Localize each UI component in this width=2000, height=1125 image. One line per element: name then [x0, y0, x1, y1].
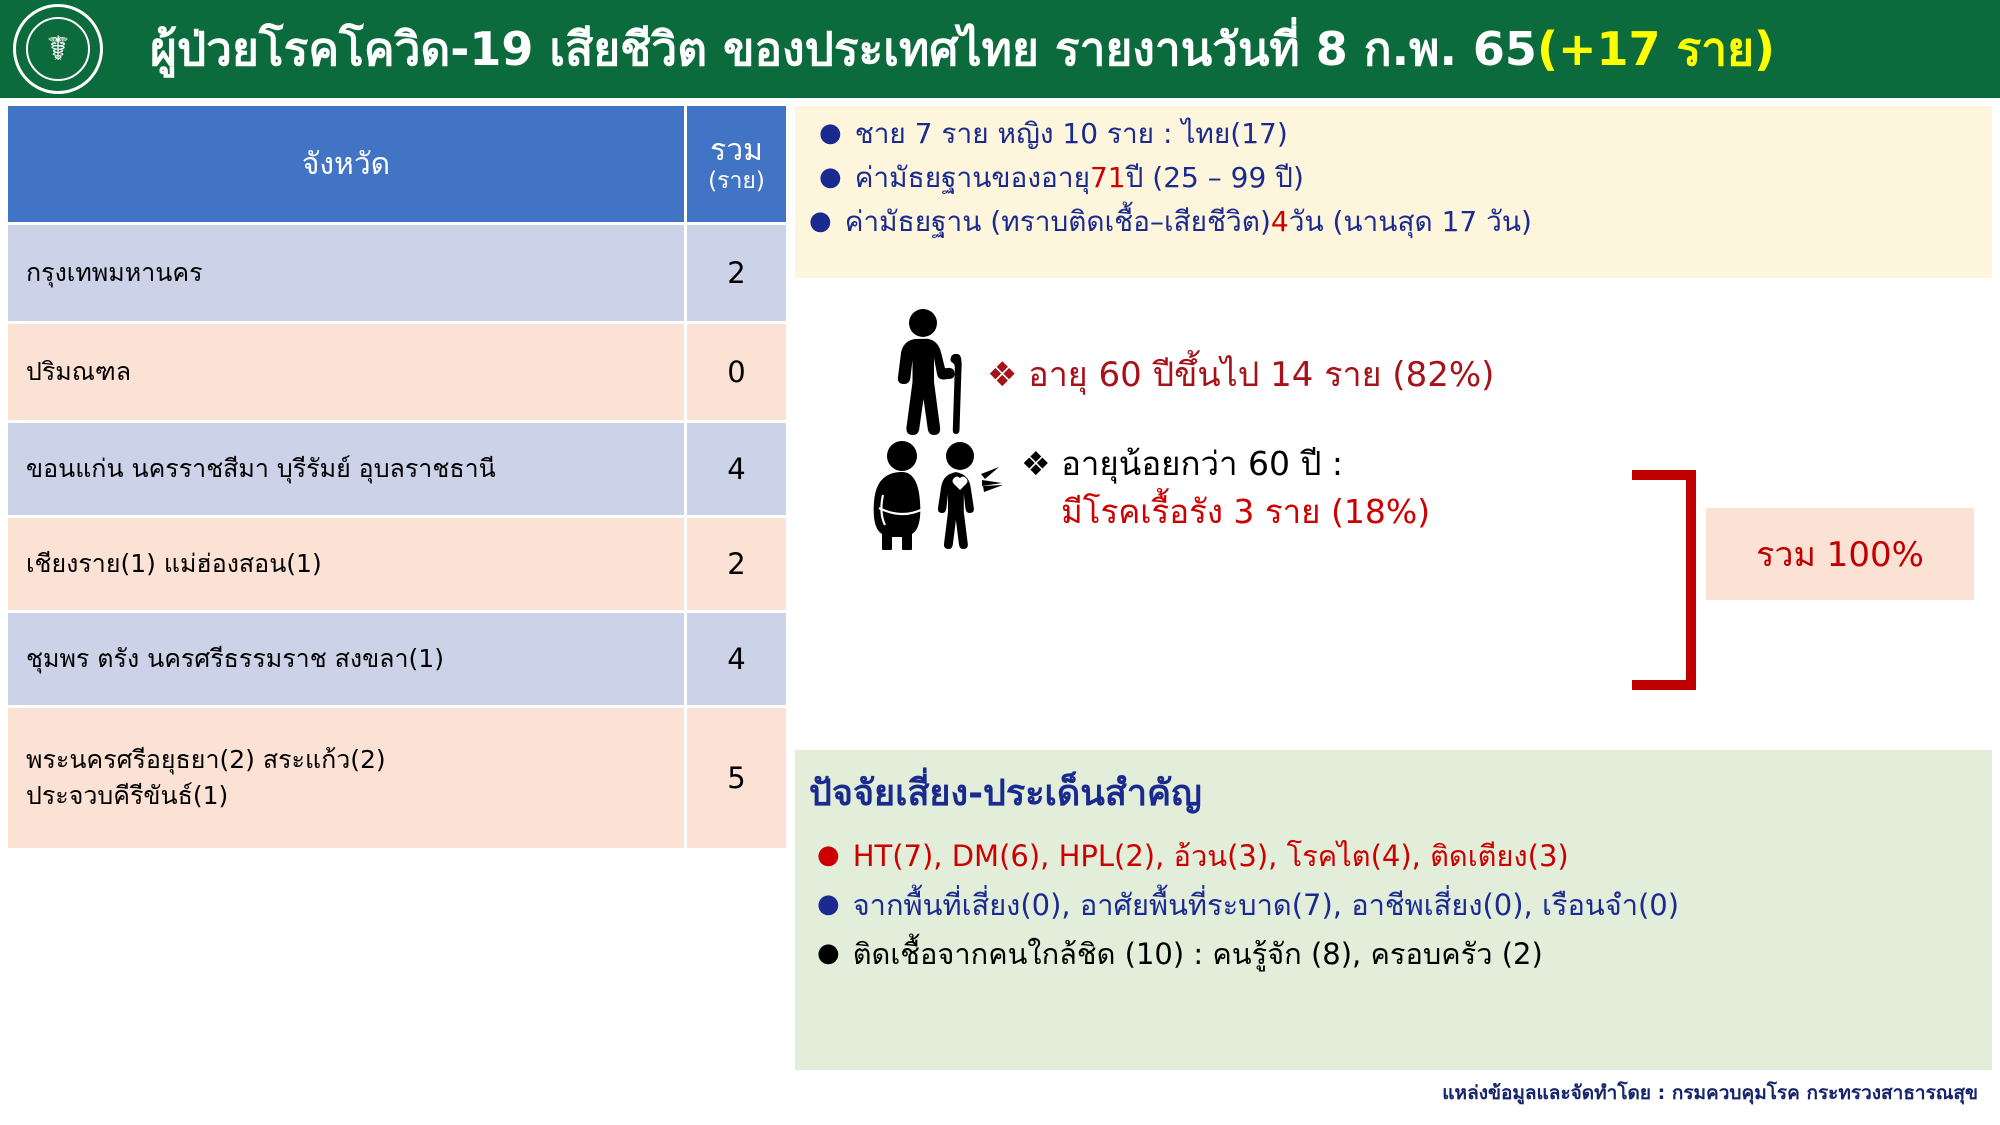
cell-total: 4 [687, 613, 786, 705]
age-under-60-text: ❖ อายุน้อยกว่า 60 ปี : มีโรคเรื้อรัง 3 ร… [1021, 440, 1430, 536]
cell-province-line2: ประจวบคีรีขันธ์(1) [26, 778, 386, 814]
table-row: เชียงราย(1) แม่ฮ่องสอน(1) 2 [8, 518, 786, 610]
column-header-total: รวม (ราย) [687, 106, 786, 222]
cell-total: 5 [687, 708, 786, 848]
cell-province: พระนครศรีอยุธยา(2) สระแก้ว(2) ประจวบคีรี… [8, 708, 684, 848]
table-row: พระนครศรีอยุธยา(2) สระแก้ว(2) ประจวบคีรี… [8, 708, 786, 848]
summary-stats-panel: ● ชาย 7 ราย หญิง 10 ราย : ไทย(17) ● ค่าม… [795, 106, 1992, 278]
risk-bullet-comorbidities: ● HT(7), DM(6), HPL(2), อ้วน(3), โรคไต(4… [795, 839, 1992, 874]
caduceus-icon: ☤ [47, 32, 70, 66]
cell-province: ปริมณฑล [8, 324, 684, 420]
risk-text: ติดเชื้อจากคนใกล้ชิด (10) : คนรู้จัก (8)… [853, 937, 1543, 972]
obese-and-chronic-illness-icon [867, 440, 1017, 554]
cell-province: ขอนแก่น นครราชสีมา บุรีรัมย์ อุบลราชธานี [8, 423, 684, 515]
cell-total: 2 [687, 518, 786, 610]
table-row: ปริมณฑล 0 [8, 324, 786, 420]
source-credit: แหล่งข้อมูลและจัดทำโดย : กรมควบคุมโรค กร… [1442, 1078, 1978, 1108]
risk-text: จากพื้นที่เสี่ยง(0), อาศัยพื้นที่ระบาด(7… [853, 888, 1679, 923]
column-header-province: จังหวัด [8, 106, 684, 222]
age-under-60-line2: มีโรคเรื้อรัง 3 ราย (18%) [1021, 488, 1430, 536]
bullet-dot-icon: ● [809, 208, 832, 234]
stat-bullet-median-days: ● ค่ามัธยฐาน (ทราบติดเชื้อ–เสียชีวิต) 4 … [795, 204, 1992, 239]
grouping-bracket [1632, 470, 1696, 690]
stat-text: ชาย 7 ราย หญิง 10 ราย : ไทย(17) [855, 116, 1288, 151]
table-row: ขอนแก่น นครราชสีมา บุรีรัมย์ อุบลราชธานี… [8, 423, 786, 515]
stat-bullet-median-age: ● ค่ามัธยฐานของอายุ 71 ปี (25 – 99 ปี) [795, 160, 1992, 195]
logo-outer-ring: ☤ [13, 4, 103, 94]
page-header: ☤ ผู้ป่วยโรคโควิด-19 เสียชีวิต ของประเทศ… [0, 0, 2000, 98]
page-title-new-deaths: (+17 ราย) [1537, 13, 1775, 86]
ministry-of-public-health-logo: ☤ [12, 4, 104, 94]
stat-text-post: ปี (25 – 99 ปี) [1126, 160, 1304, 195]
bullet-dot-icon: ● [817, 842, 840, 868]
age-under-60-line1: ❖ อายุน้อยกว่า 60 ปี : [1021, 444, 1343, 483]
page-title: ผู้ป่วยโรคโควิด-19 เสียชีวิต ของประเทศไท… [150, 0, 1980, 98]
cell-province: ชุมพร ตรัง นครศรีธรรมราช สงขลา(1) [8, 613, 684, 705]
risk-bullet-close-contact: ● ติดเชื้อจากคนใกล้ชิด (10) : คนรู้จัก (… [795, 937, 1992, 972]
cell-province: เชียงราย(1) แม่ฮ่องสอน(1) [8, 518, 684, 610]
stat-text-pre: ค่ามัธยฐานของอายุ [855, 160, 1090, 195]
column-header-total-unit: (ราย) [708, 168, 765, 194]
risk-panel-title: ปัจจัยเสี่ยง-ประเด็นสำคัญ [795, 764, 1992, 821]
bullet-dot-icon: ● [817, 940, 840, 966]
bullet-dot-icon: ● [819, 120, 842, 146]
logo-inner-ring: ☤ [26, 17, 90, 81]
stat-median-days-value: 4 [1271, 204, 1289, 239]
bullet-dot-icon: ● [819, 164, 842, 190]
risk-text: HT(7), DM(6), HPL(2), อ้วน(3), โรคไต(4),… [853, 839, 1569, 874]
stat-bullet-sex-nationality: ● ชาย 7 ราย หญิง 10 ราย : ไทย(17) [795, 116, 1992, 151]
table-row: ชุมพร ตรัง นครศรีธรรมราช สงขลา(1) 4 [8, 613, 786, 705]
risk-bullet-exposure-area: ● จากพื้นที่เสี่ยง(0), อาศัยพื้นที่ระบาด… [795, 888, 1992, 923]
cell-province-line1: พระนครศรีอยุธยา(2) สระแก้ว(2) [26, 742, 386, 778]
cell-total: 2 [687, 225, 786, 321]
age-60-plus-row: ❖ อายุ 60 ปีขึ้นไป 14 ราย (82%) [885, 308, 1494, 440]
province-death-table: จังหวัด รวม (ราย) กรุงเทพมหานคร 2 ปริมณฑ… [8, 106, 786, 851]
stat-median-age-value: 71 [1090, 160, 1126, 195]
stat-text-post: วัน (นานสุด 17 วัน) [1289, 204, 1532, 239]
age-under-60-row: ❖ อายุน้อยกว่า 60 ปี : มีโรคเรื้อรัง 3 ร… [867, 440, 1430, 554]
risk-factors-panel: ปัจจัยเสี่ยง-ประเด็นสำคัญ ● HT(7), DM(6)… [795, 750, 1992, 1070]
bullet-dot-icon: ● [817, 891, 840, 917]
table-header-row: จังหวัด รวม (ราย) [8, 106, 786, 222]
page-title-main: ผู้ป่วยโรคโควิด-19 เสียชีวิต ของประเทศไท… [150, 13, 1537, 86]
column-header-total-label: รวม [710, 134, 763, 169]
stat-text-pre: ค่ามัธยฐาน (ทราบติดเชื้อ–เสียชีวิต) [845, 204, 1271, 239]
elderly-with-cane-icon [885, 308, 975, 440]
cell-total: 4 [687, 423, 786, 515]
cell-total: 0 [687, 324, 786, 420]
cell-province: กรุงเทพมหานคร [8, 225, 684, 321]
total-percent-box: รวม 100% [1706, 508, 1974, 600]
age-60-plus-text: ❖ อายุ 60 ปีขึ้นไป 14 ราย (82%) [987, 347, 1494, 401]
table-row: กรุงเทพมหานคร 2 [8, 225, 786, 321]
